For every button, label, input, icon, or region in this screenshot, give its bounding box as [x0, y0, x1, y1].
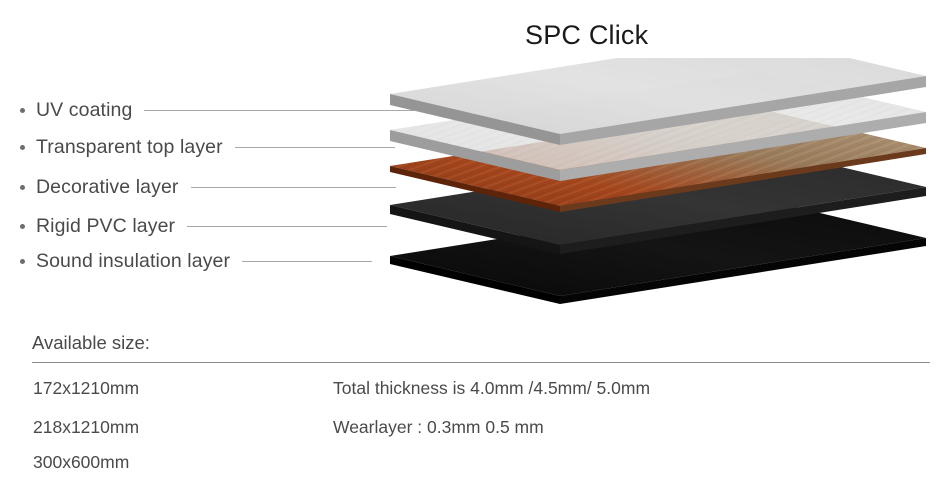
callout-label: UV coating [36, 99, 132, 122]
diagram-canvas: SPC Click UV coating Transparent top lay… [0, 0, 948, 502]
leader-line [235, 147, 395, 148]
callout-decorative-layer: Decorative layer [20, 175, 396, 199]
bullet-icon [20, 145, 25, 150]
leader-line [191, 187, 396, 188]
bullet-icon [20, 108, 25, 113]
callout-label: Decorative layer [36, 176, 179, 199]
callout-label: Rigid PVC layer [36, 215, 175, 238]
bullet-icon [20, 259, 25, 264]
spec-wearlayer: Wearlayer : 0.3mm 0.5 mm [333, 417, 544, 438]
callout-sound-insulation-layer: Sound insulation layer [20, 249, 372, 273]
size-option: 218x1210mm [33, 417, 139, 438]
leader-line [144, 110, 414, 111]
callout-uv-coating: UV coating [20, 98, 414, 122]
callout-rigid-pvc-layer: Rigid PVC layer [20, 214, 387, 238]
bullet-icon [20, 185, 25, 190]
available-size-heading: Available size: [32, 332, 150, 354]
leader-line [242, 261, 372, 262]
size-option: 300x600mm [33, 452, 129, 473]
bullet-icon [20, 224, 25, 229]
divider [32, 362, 930, 363]
page-title: SPC Click [525, 20, 648, 51]
exploded-layer-stack-illustration [380, 58, 948, 306]
spec-total-thickness: Total thickness is 4.0mm /4.5mm/ 5.0mm [333, 378, 650, 399]
callout-transparent-top-layer: Transparent top layer [20, 135, 395, 159]
callout-label: Sound insulation layer [36, 250, 230, 273]
leader-line [187, 226, 387, 227]
size-option: 172x1210mm [33, 378, 139, 399]
callout-label: Transparent top layer [36, 136, 223, 159]
